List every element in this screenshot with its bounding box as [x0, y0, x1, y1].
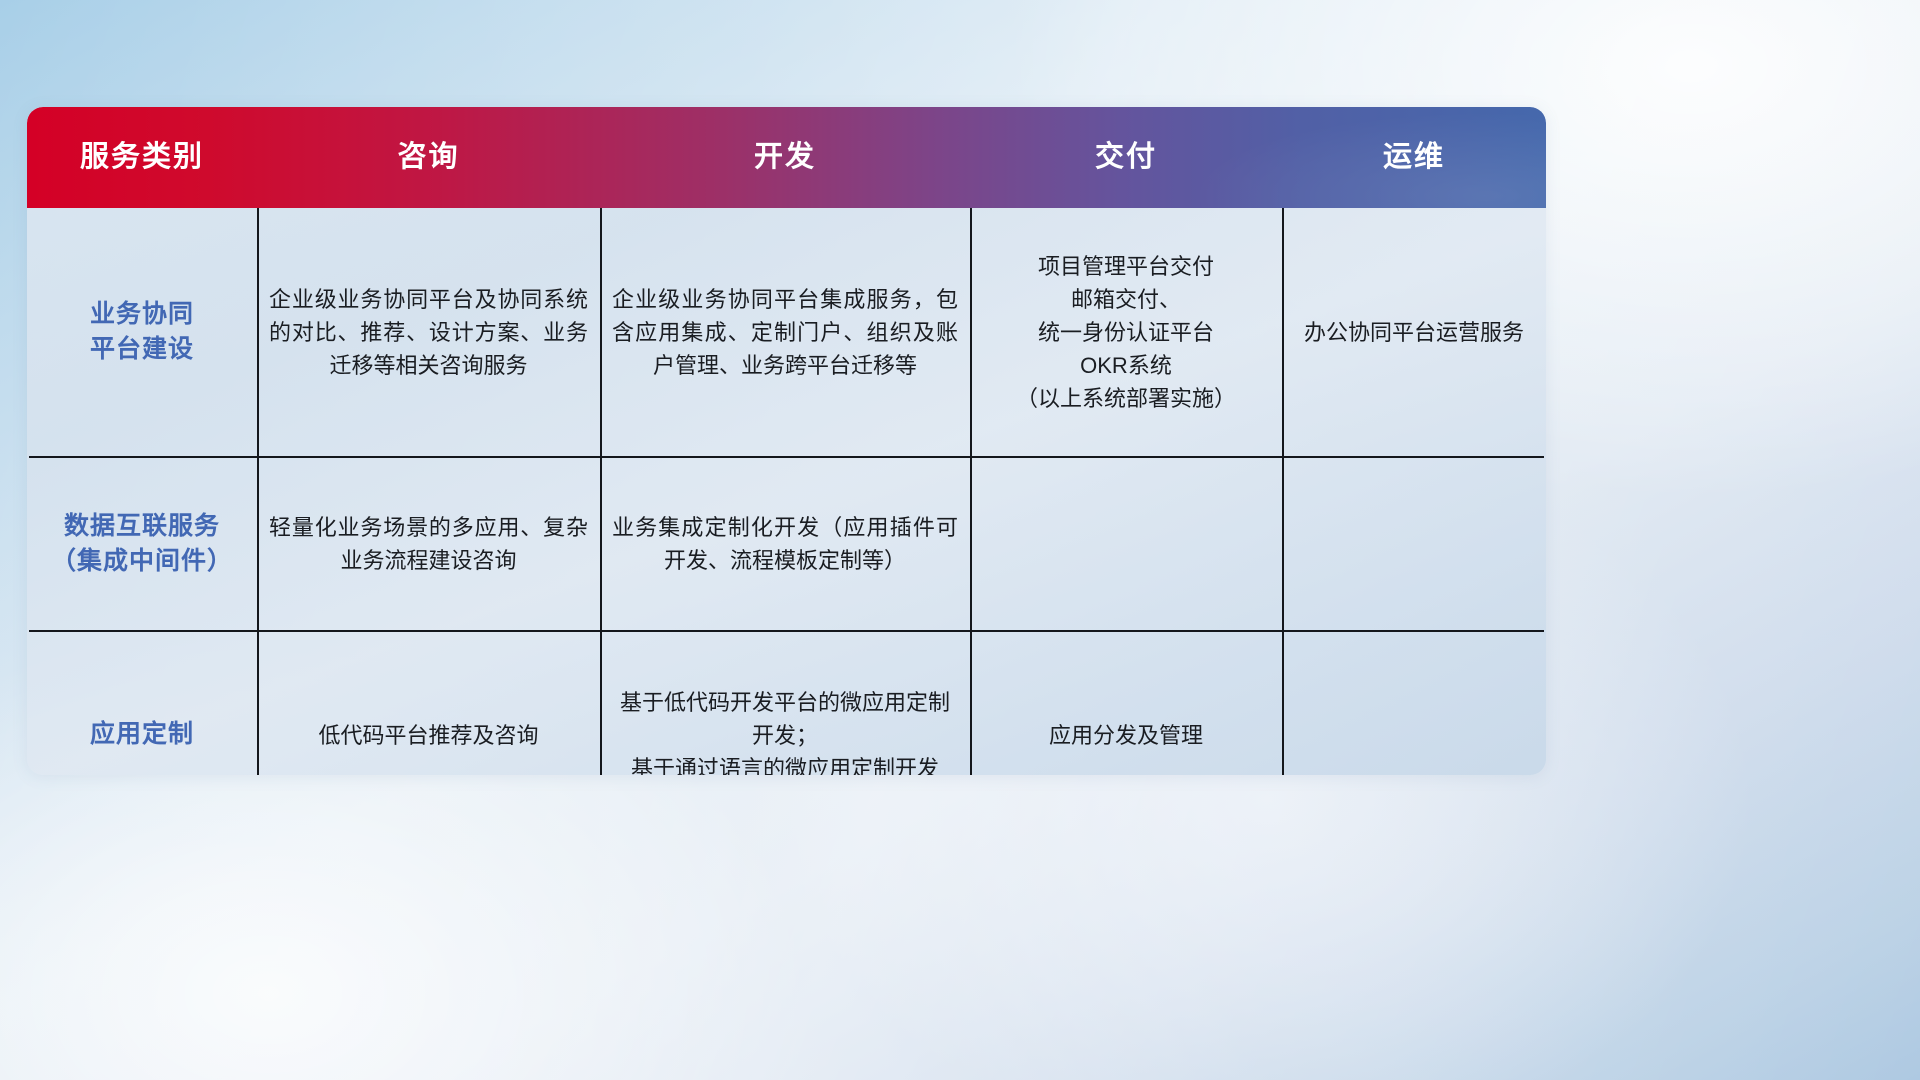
cell-text: 项目管理平台交付 邮箱交付、 统一身份认证平台 OKR系统 （以上系统部署实施） — [1016, 250, 1236, 415]
service-matrix-table: 服务类别 咨询 开发 交付 运维 业务协同 平台建设 企业级业务协同平台及协同系… — [27, 107, 1546, 775]
cell-text: 办公协同平台运营服务 — [1304, 316, 1524, 349]
cell-text: 企业级业务协同平台集成服务，包含应用集成、定制门户、组织及账户管理、业务跨平台迁… — [612, 283, 958, 382]
cell-development: 基于低代码开发平台的微应用定制开发； 基于通过语言的微应用定制开发 — [600, 632, 970, 775]
table-header-row: 服务类别 咨询 开发 交付 运维 — [27, 107, 1546, 208]
cell-text: 低代码平台推荐及咨询 — [318, 719, 538, 752]
cell-text: 基于低代码开发平台的微应用定制开发； 基于通过语言的微应用定制开发 — [612, 686, 958, 776]
row-category-label: 数据互联服务 （集成中间件） — [51, 509, 233, 580]
column-header-development: 开发 — [600, 140, 970, 175]
cell-text: 轻量化业务场景的多应用、复杂业务流程建设咨询 — [269, 511, 588, 577]
cell-operations — [1282, 458, 1546, 630]
row-category-cell: 数据互联服务 （集成中间件） — [27, 458, 257, 630]
row-category-label: 应用定制 — [90, 717, 194, 753]
cell-text: 企业级业务协同平台及协同系统的对比、推荐、设计方案、业务迁移等相关咨询服务 — [269, 283, 588, 382]
column-header-delivery: 交付 — [970, 140, 1282, 175]
table-row: 应用定制 低代码平台推荐及咨询 基于低代码开发平台的微应用定制开发； 基于通过语… — [27, 632, 1546, 775]
column-header-category: 服务类别 — [27, 140, 257, 175]
cell-text: 业务集成定制化开发（应用插件可开发、流程模板定制等） — [612, 511, 958, 577]
cell-development: 企业级业务协同平台集成服务，包含应用集成、定制门户、组织及账户管理、业务跨平台迁… — [600, 208, 970, 456]
row-category-cell: 业务协同 平台建设 — [27, 208, 257, 456]
cell-consulting: 企业级业务协同平台及协同系统的对比、推荐、设计方案、业务迁移等相关咨询服务 — [257, 208, 600, 456]
table-row: 业务协同 平台建设 企业级业务协同平台及协同系统的对比、推荐、设计方案、业务迁移… — [27, 208, 1546, 456]
cell-consulting: 低代码平台推荐及咨询 — [257, 632, 600, 775]
cell-delivery — [970, 458, 1282, 630]
column-header-operations: 运维 — [1282, 140, 1546, 175]
column-header-consulting: 咨询 — [257, 140, 600, 175]
cell-delivery: 应用分发及管理 — [970, 632, 1282, 775]
cell-text: 应用分发及管理 — [1049, 719, 1203, 752]
table-row: 数据互联服务 （集成中间件） 轻量化业务场景的多应用、复杂业务流程建设咨询 业务… — [27, 458, 1546, 630]
cell-development: 业务集成定制化开发（应用插件可开发、流程模板定制等） — [600, 458, 970, 630]
row-category-cell: 应用定制 — [27, 632, 257, 775]
cell-operations: 办公协同平台运营服务 — [1282, 208, 1546, 456]
cell-operations — [1282, 632, 1546, 775]
row-category-label: 业务协同 平台建设 — [90, 297, 194, 368]
cell-consulting: 轻量化业务场景的多应用、复杂业务流程建设咨询 — [257, 458, 600, 630]
cell-delivery: 项目管理平台交付 邮箱交付、 统一身份认证平台 OKR系统 （以上系统部署实施） — [970, 208, 1282, 456]
table-body: 业务协同 平台建设 企业级业务协同平台及协同系统的对比、推荐、设计方案、业务迁移… — [27, 208, 1546, 775]
